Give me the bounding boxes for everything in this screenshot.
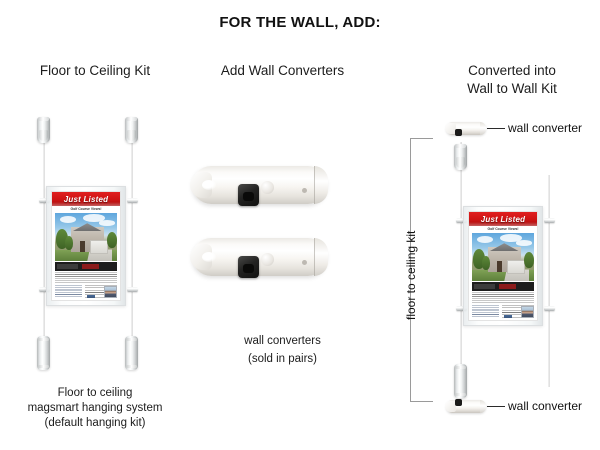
- poster-price-bar: [55, 262, 118, 271]
- poster-description-right: [472, 292, 535, 304]
- callout-label-top: wall converter: [508, 121, 582, 135]
- brokerage-logo-right: [504, 315, 512, 318]
- diagram-canvas: FOR THE WALL, ADD: Floor to Ceiling Kit …: [0, 0, 600, 450]
- poster-left: Just Listed Golf Course Views!: [51, 191, 121, 301]
- poster-holder-left: Just Listed Golf Course Views!: [46, 186, 126, 306]
- poster-photo-right: [472, 233, 535, 282]
- caption-floor-to-ceiling-line1: Floor to ceiling: [0, 386, 190, 401]
- cable-grip-icon-br: [127, 287, 138, 292]
- poster-banner: Just Listed: [52, 192, 120, 206]
- poster-banner-text: Just Listed: [64, 195, 108, 204]
- cable-right-right-kit: [548, 175, 550, 387]
- column-heading-add-wall-converters: Add Wall Converters: [195, 62, 370, 80]
- poster-holder-right: Just Listed Golf Course Views!: [463, 206, 543, 326]
- caption-floor-to-ceiling-line2: magsmart hanging system: [0, 401, 190, 416]
- leader-line-top: [487, 128, 505, 129]
- brokerage-logo: [87, 295, 95, 298]
- floor-fitting-icon-left: [37, 336, 50, 370]
- agent-photo: [104, 286, 118, 299]
- wall-to-wall-kit-illustration: floor to ceiling kit wall converter wall…: [390, 0, 600, 450]
- cable-left: [43, 128, 45, 360]
- poster-right: Just Listed Golf Course Views!: [468, 211, 538, 321]
- ceiling-fitting-icon-left: [37, 117, 50, 143]
- ceiling-fitting-icon-right: [125, 117, 138, 143]
- poster-footer: [55, 285, 118, 299]
- callout-label-bottom: wall converter: [508, 399, 582, 413]
- poster-agent-block: [85, 285, 118, 299]
- poster-description: [55, 272, 118, 284]
- poster-feature-list-right: [472, 305, 500, 319]
- cable-right: [131, 128, 133, 360]
- cable-grip-icon-tr: [127, 198, 138, 203]
- vertical-label-floor-to-ceiling-kit: floor to ceiling kit: [404, 231, 418, 320]
- poster-photo: [55, 213, 118, 262]
- cable-grip-icon-rbr: [544, 306, 555, 311]
- wall-converter-icon-upper: [192, 166, 327, 204]
- wall-converter-icon-top: [446, 122, 486, 135]
- floor-to-ceiling-kit-illustration: Just Listed Golf Course Views!: [0, 0, 190, 450]
- cable-left-right-kit: [460, 142, 462, 392]
- floor-fitting-icon-right: [125, 336, 138, 370]
- ceiling-fitting-icon-right-kit: [454, 144, 467, 170]
- leader-line-bottom: [487, 406, 505, 407]
- poster-price-bar-right: [472, 282, 535, 291]
- poster-footer-right: [472, 305, 535, 319]
- poster-agent-block-right: [502, 305, 535, 319]
- caption-wall-converters-line2: (sold in pairs): [195, 352, 370, 367]
- poster-banner-right: Just Listed: [469, 212, 537, 226]
- poster-banner-text-right: Just Listed: [481, 215, 525, 224]
- floor-fitting-icon-right-kit: [454, 364, 467, 398]
- wall-converter-icon-bottom: [446, 400, 486, 413]
- caption-floor-to-ceiling-line3: (default hanging kit): [0, 416, 190, 431]
- poster-feature-list: [55, 285, 83, 299]
- wall-converter-icon-lower: [192, 238, 327, 276]
- caption-wall-converters-line1: wall converters: [195, 334, 370, 349]
- cable-grip-icon-rtr: [544, 218, 555, 223]
- agent-photo-right: [521, 306, 535, 319]
